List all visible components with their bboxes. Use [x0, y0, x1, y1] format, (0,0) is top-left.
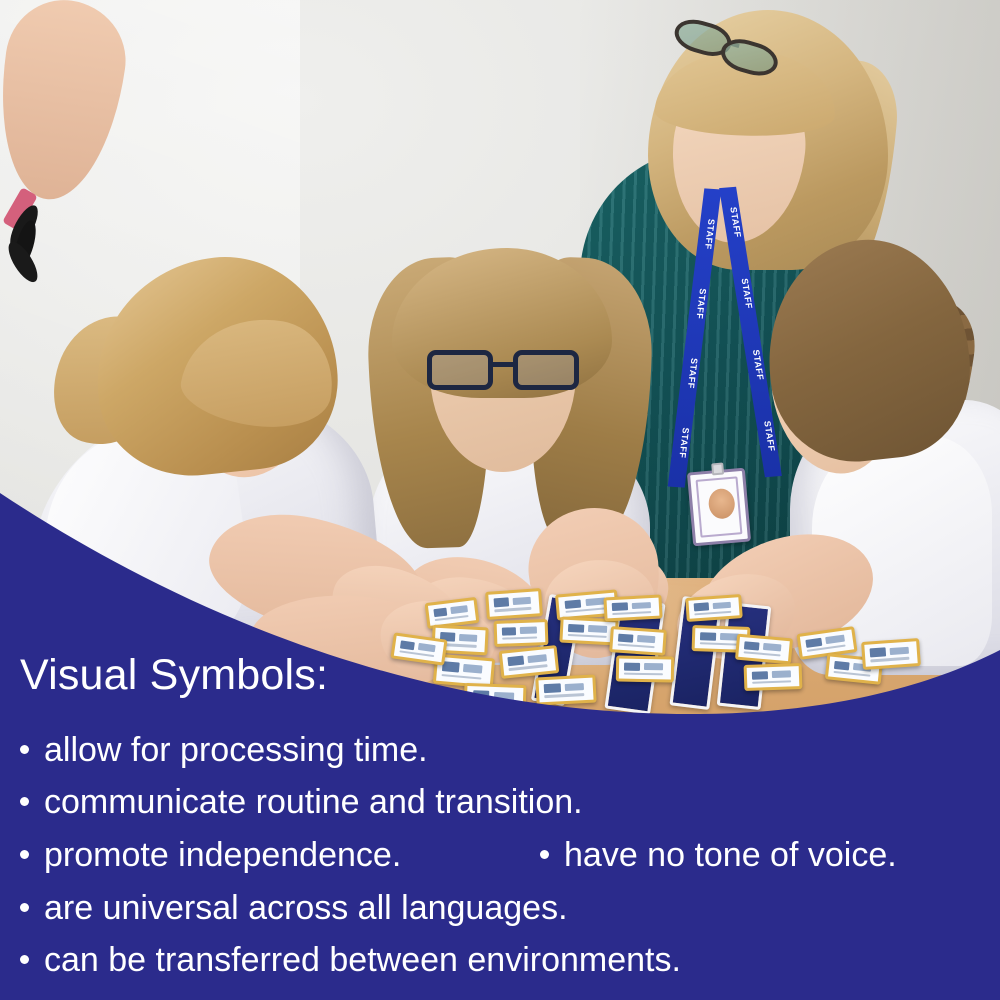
list-item-label: can be transferred between environments.	[44, 941, 681, 979]
list-item-label: have no tone of voice.	[564, 836, 897, 874]
poster: STAFF STAFF STAFF STAFF STAFF STAFF STAF…	[0, 0, 1000, 1000]
list-item-label: communicate routine and transition.	[44, 783, 583, 821]
list-item: communicate routine and transition.	[20, 785, 583, 819]
bullet-dot-icon	[20, 797, 29, 806]
list-item-secondary: have no tone of voice.	[540, 838, 897, 872]
bullet-dot-icon	[20, 745, 29, 754]
page-title: Visual Symbols:	[20, 654, 328, 697]
list-item: allow for processing time.	[20, 733, 428, 767]
list-item-label: are universal across all languages.	[44, 889, 568, 927]
bullet-dot-icon	[20, 903, 29, 912]
list-item-label: allow for processing time.	[44, 731, 428, 769]
bullet-dot-icon	[20, 850, 29, 859]
list-item: are universal across all languages.	[20, 891, 568, 925]
list-item: promote independence.	[20, 838, 401, 872]
list-item: can be transferred between environments.	[20, 943, 681, 977]
banner-text-block: Visual Symbols: allow for processing tim…	[0, 0, 1000, 1000]
bullet-dot-icon	[20, 955, 29, 964]
list-item-label: promote independence.	[44, 836, 401, 874]
bullet-dot-icon	[540, 850, 549, 859]
